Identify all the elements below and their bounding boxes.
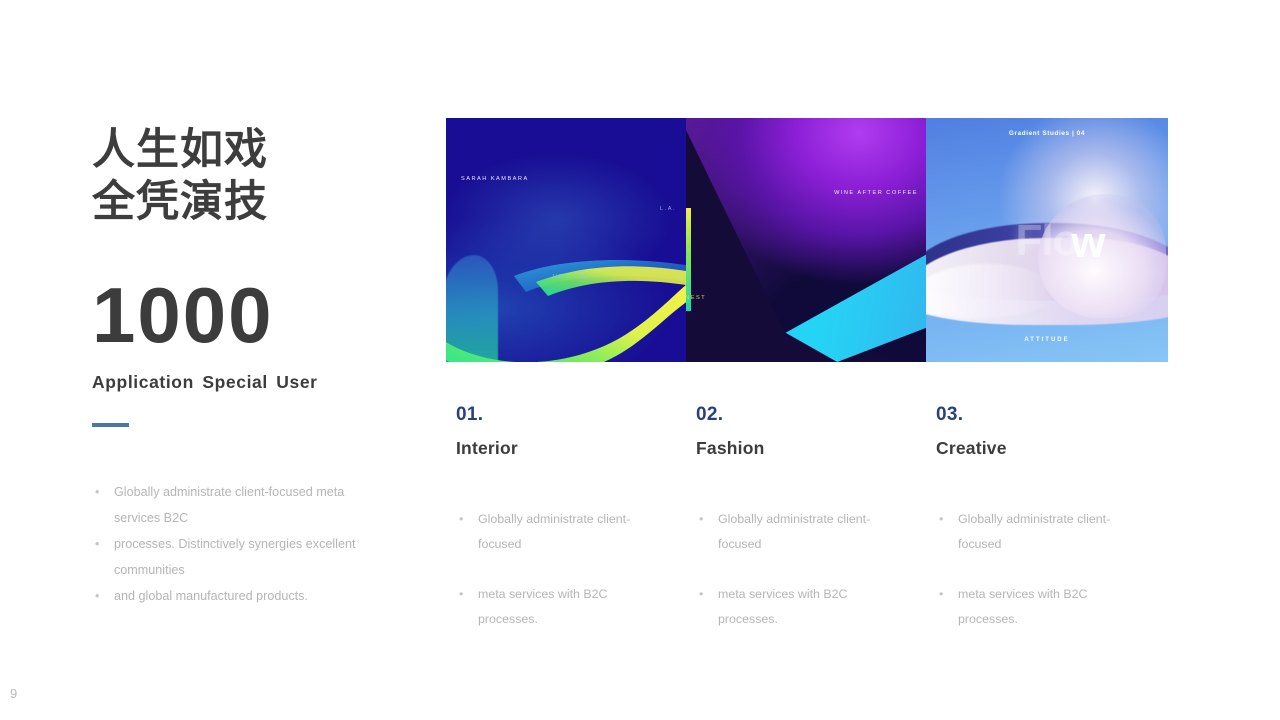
bullet-dot-icon: • <box>95 531 99 557</box>
bullet-dot-icon: • <box>459 582 463 607</box>
bullet-dot-icon: • <box>939 507 943 532</box>
bullet-dot-icon: • <box>699 582 703 607</box>
presentation-slide: 人生如戏 全凭演技 1000 Application Special User … <box>0 0 1280 720</box>
feature-title: Creative <box>936 438 1168 459</box>
list-item: • Globally administrate client-focused <box>936 507 1116 557</box>
bullet-dot-icon: • <box>459 507 463 532</box>
image-panel-3: Flo w Gradient Studies | 04 ATTITUDE <box>926 118 1168 362</box>
panel3-flow-word: Flo <box>1016 216 1079 266</box>
slide-heading-line2: 全凭演技 <box>92 176 412 228</box>
list-item: • Globally administrate client-focused <box>696 507 876 557</box>
panel1-track-caption: JIB - JAB <box>552 274 589 280</box>
feature-number: 01. <box>456 404 696 426</box>
feature-column-1: 01. Interior • Globally administrate cli… <box>456 404 696 657</box>
bullet-dot-icon: • <box>95 583 99 609</box>
list-item-text: Globally administrate client-focused <box>478 512 630 551</box>
feature-title: Fashion <box>696 438 936 459</box>
bullet-dot-icon: • <box>699 507 703 532</box>
list-item: • meta services with B2C processes. <box>696 582 876 632</box>
image-panel-1: SARAH KAMBARA L.A. JIB - JAB <box>446 118 686 362</box>
feature-bullet-list: • Globally administrate client-focused •… <box>696 507 936 632</box>
feature-number: 03. <box>936 404 1168 426</box>
feature-bullet-list: • Globally administrate client-focused •… <box>456 507 696 632</box>
image-strip: SARAH KAMBARA L.A. JIB - JAB WINE AFTER … <box>446 118 1168 362</box>
panel3-wave-tail <box>926 264 1057 318</box>
list-item-text: Globally administrate client-focused <box>958 512 1110 551</box>
panel3-flow-word-accent: w <box>1071 218 1105 268</box>
page-number: 9 <box>10 686 17 701</box>
panel2-title-caption: WINE AFTER COFFEE <box>834 190 918 196</box>
left-content-block: 人生如戏 全凭演技 1000 Application Special User … <box>92 124 412 609</box>
panel2-label-caption: ANEST <box>686 295 706 301</box>
list-item: • meta services with B2C processes. <box>456 582 636 632</box>
panel1-artist-caption: SARAH KAMBARA <box>461 176 529 182</box>
feature-column-3: 03. Creative • Globally administrate cli… <box>936 404 1168 657</box>
accent-divider <box>92 423 129 427</box>
left-bullet-list: • Globally administrate client-focused m… <box>92 479 392 609</box>
list-item: • and global manufactured products. <box>92 583 392 609</box>
list-item-text: and global manufactured products. <box>114 589 308 603</box>
list-item: • processes. Distinctively synergies exc… <box>92 531 392 583</box>
slide-heading-line1: 人生如戏 <box>92 124 412 176</box>
bullet-dot-icon: • <box>939 582 943 607</box>
feature-title: Interior <box>456 438 696 459</box>
list-item-text: Globally administrate client-focused met… <box>114 485 344 525</box>
stat-number: 1000 <box>92 277 412 353</box>
stat-label: Application Special User <box>92 372 412 393</box>
bullet-dot-icon: • <box>95 479 99 505</box>
list-item: • Globally administrate client-focused m… <box>92 479 392 531</box>
list-item-text: meta services with B2C processes. <box>958 587 1087 626</box>
feature-column-2: 02. Fashion • Globally administrate clie… <box>696 404 936 657</box>
feature-number: 02. <box>696 404 936 426</box>
list-item-text: meta services with B2C processes. <box>478 587 607 626</box>
list-item: • Globally administrate client-focused <box>456 507 636 557</box>
image-panel-2: WINE AFTER COFFEE ANEST <box>686 118 926 362</box>
panel1-city-caption: L.A. <box>660 206 676 212</box>
feature-bullet-list: • Globally administrate client-focused •… <box>936 507 1168 632</box>
panel3-series-caption: Gradient Studies | 04 <box>1009 130 1085 137</box>
slide-heading: 人生如戏 全凭演技 <box>92 124 412 229</box>
feature-columns: 01. Interior • Globally administrate cli… <box>456 404 1168 657</box>
list-item-text: Globally administrate client-focused <box>718 512 870 551</box>
list-item-text: meta services with B2C processes. <box>718 587 847 626</box>
list-item-text: processes. Distinctively synergies excel… <box>114 537 355 577</box>
panel1-neon-ribbon-icon <box>446 252 686 362</box>
list-item: • meta services with B2C processes. <box>936 582 1116 632</box>
panel3-footer-caption: ATTITUDE <box>1024 337 1069 343</box>
